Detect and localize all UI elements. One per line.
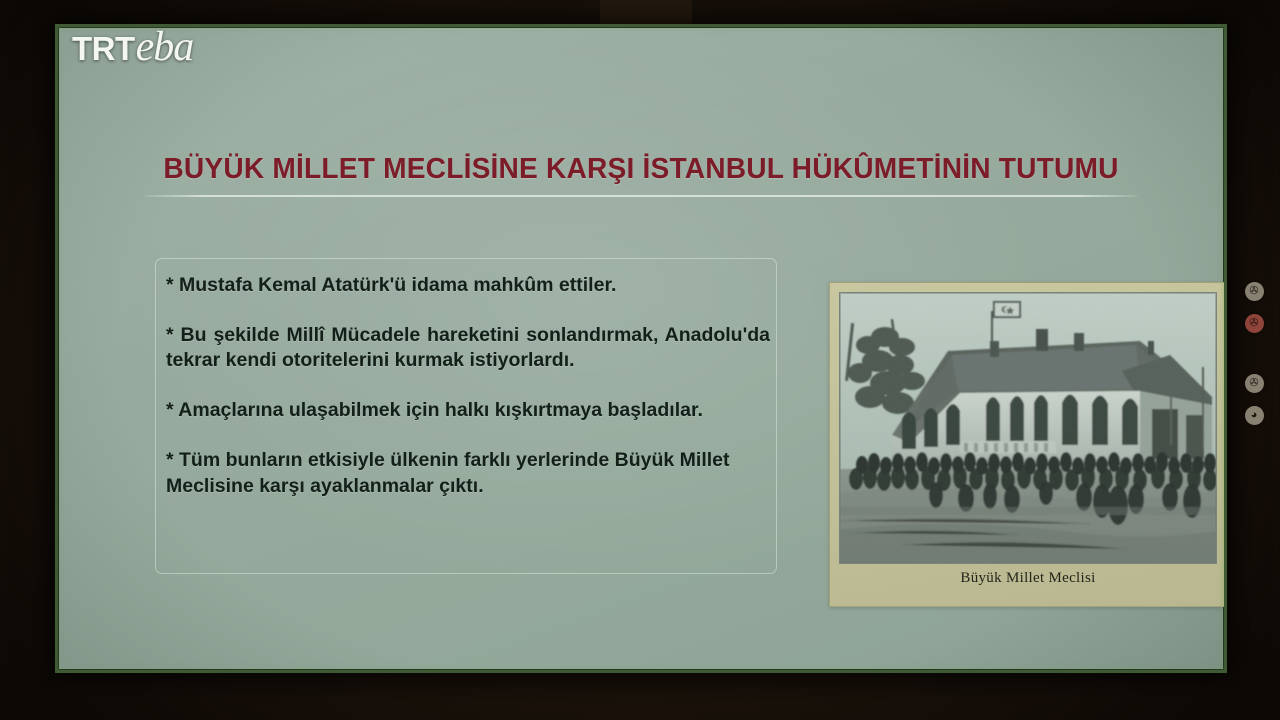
video-frame: BÜYÜK MİLLET MECLİSİNE KARŞI İSTANBUL HÜ…	[0, 0, 1280, 720]
title-underline	[145, 195, 1137, 197]
presentation-slide: BÜYÜK MİLLET MECLİSİNE KARŞI İSTANBUL HÜ…	[59, 28, 1223, 669]
bullet-item: * Bu şekilde Millî Mücadele hareketini s…	[166, 323, 770, 374]
overlay-icon-3[interactable]: ✇	[1245, 374, 1264, 393]
logo-trt-text: TRT	[72, 30, 135, 68]
photo-card: Büyük Millet Meclisi	[829, 282, 1227, 607]
overlay-icon-1[interactable]: ✇	[1245, 282, 1264, 301]
photo-caption: Büyük Millet Meclisi	[839, 570, 1217, 587]
slide-title-block: BÜYÜK MİLLET MECLİSİNE KARŞI İSTANBUL HÜ…	[121, 153, 1161, 197]
overlay-icon-2[interactable]: ✇	[1245, 314, 1264, 333]
overlay-icon-strip: ✇ ✇ ✇ ◕	[1236, 282, 1272, 425]
overlay-icon-4[interactable]: ◕	[1245, 406, 1264, 425]
logo-eba-text: eba	[136, 26, 194, 68]
historical-photograph	[839, 292, 1217, 564]
page-title: BÜYÜK MİLLET MECLİSİNE KARŞI İSTANBUL HÜ…	[137, 153, 1146, 186]
projection-screen: BÜYÜK MİLLET MECLİSİNE KARŞI İSTANBUL HÜ…	[55, 24, 1227, 673]
bullet-item: * Mustafa Kemal Atatürk'ü idama mahkûm e…	[166, 273, 770, 299]
trt-eba-logo: TRT eba	[72, 26, 193, 68]
bullet-text-box: * Mustafa Kemal Atatürk'ü idama mahkûm e…	[155, 258, 777, 574]
bullet-item: * Amaçlarına ulaşabilmek için halkı kışk…	[166, 398, 770, 424]
bullet-item: * Tüm bunların etkisiyle ülkenin farklı …	[166, 448, 770, 499]
